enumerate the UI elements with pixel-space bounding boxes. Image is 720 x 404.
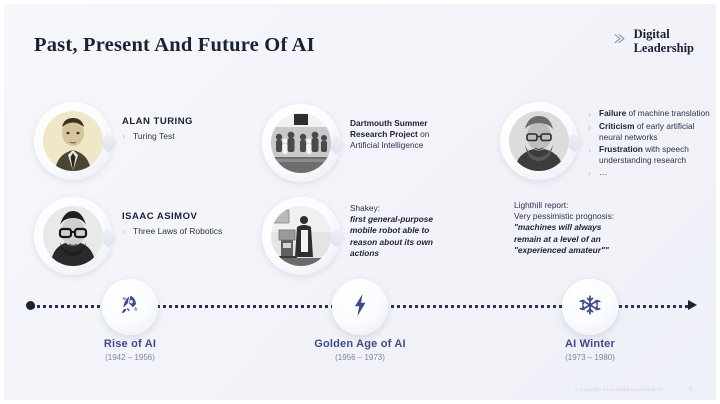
timeline-node-golden-age[interactable] [332,279,388,335]
block-isaac-asimov: ISAAC ASIMOV › Three Laws of Robotics [34,197,269,275]
timeline-node-ai-winter[interactable] [562,279,618,335]
timeline-label-rise-of-ai: Rise of AI (1942 – 1956) [30,338,230,362]
lighthill-line-1: Lighthill report: [514,200,644,211]
bullet-item: › Three Laws of Robotics [122,226,267,237]
bullet-item: › Failure of machine translation [588,108,712,120]
block-lighthill-report: Lighthill report: Very pessimistic progn… [514,200,644,256]
bullet-label: Turing Test [133,131,175,142]
double-chevron-icon [614,32,627,50]
chevron-right-icon: › [122,226,125,237]
timeline-name: AI Winter [490,338,690,350]
timeline-arrow-icon [688,300,697,310]
bullet-label: Failure of machine translation [599,108,710,119]
timeline-years: (1973 – 1980) [490,353,690,362]
logo-line-2: Leadership [634,41,694,55]
avatar [34,102,112,180]
timeline-years: (1956 – 1973) [260,353,460,362]
bullet-item: › Criticism of early artificial neural n… [588,121,712,143]
lighthill-quote-line-1: "machines will always [514,222,644,233]
bullet-label: … [599,167,607,178]
avatar [262,197,340,275]
timeline-label-ai-winter: AI Winter (1973 – 1980) [490,338,690,362]
lighthill-quote-line-2: remain at a level of an [514,234,644,245]
bullet-item: › Frustration with speech understanding … [588,144,712,166]
chevron-right-icon: › [588,108,591,120]
snowflake-icon [579,294,601,321]
timeline-name: Golden Age of AI [260,338,460,350]
bullet-item: › … [588,167,712,179]
bullet-label: Criticism of early artificial neural net… [599,121,712,143]
slide-canvas: Past, Present And Future Of AI Digital L… [4,4,716,400]
lighthill-line-2: Very pessimistic prognosis: [514,211,644,222]
lightning-icon [350,293,370,322]
rocket-icon [119,294,141,321]
block-shakey: Shakey: first general-purpose mobile rob… [262,197,477,275]
logo-line-1: Digital [634,27,670,41]
dartmouth-line-1: Dartmouth Summer [350,118,472,129]
brand-logo: Digital Leadership [614,28,694,55]
shakey-label: Shakey: [350,203,472,214]
shakey-quote-line-1: first general-purpose [350,214,472,225]
person-name: ISAAC ASIMOV [122,211,267,222]
portrait-james-lighthill [509,111,569,171]
dartmouth-line-2: Research Project on [350,129,472,140]
bullet-label: Frustration with speech understanding re… [599,144,712,166]
shakey-quote-line-2: mobile robot able to [350,225,472,236]
timeline-years: (1942 – 1956) [30,353,230,362]
block-dartmouth: Dartmouth Summer Research Project on Art… [262,104,477,182]
person-name: ALAN TURING [122,116,257,127]
portrait-isaac-asimov [43,206,103,266]
chevron-right-icon: › [588,121,591,133]
bullet-label: Three Laws of Robotics [133,226,222,237]
timeline: Rise of AI (1942 – 1956) Golden Age of A… [4,292,716,322]
timeline-start-dot [26,301,35,310]
shakey-quote-line-3: reason about its own [350,237,472,248]
lighthill-quote-line-3: "experienced amateur"" [514,245,644,256]
chevron-right-icon: › [122,131,125,142]
chevron-right-icon: › [588,144,591,156]
timeline-label-golden-age: Golden Age of AI (1956 – 1973) [260,338,460,362]
photo-dartmouth-conference [271,113,331,173]
page-number: 5 [689,387,692,393]
avatar [34,197,112,275]
block-alan-turing: ALAN TURING › Turing Test [34,102,259,180]
photo-shakey-robot [271,206,331,266]
timeline-name: Rise of AI [30,338,230,350]
portrait-alan-turing [43,111,103,171]
dartmouth-line-3: Artificial Intelligence [350,140,472,151]
avatar [500,102,578,180]
page-title: Past, Present And Future Of AI [34,34,315,57]
block-ai-winter: › Failure of machine translation › Criti… [500,102,715,180]
shakey-quote-line-4: actions [350,248,472,259]
timeline-node-rise-of-ai[interactable] [102,279,158,335]
avatar [262,104,340,182]
copyright-notice: © Copyright 2019 Digital Leadership AG [575,387,664,392]
bullet-item: › Turing Test [122,131,257,142]
chevron-right-icon: › [588,167,591,179]
